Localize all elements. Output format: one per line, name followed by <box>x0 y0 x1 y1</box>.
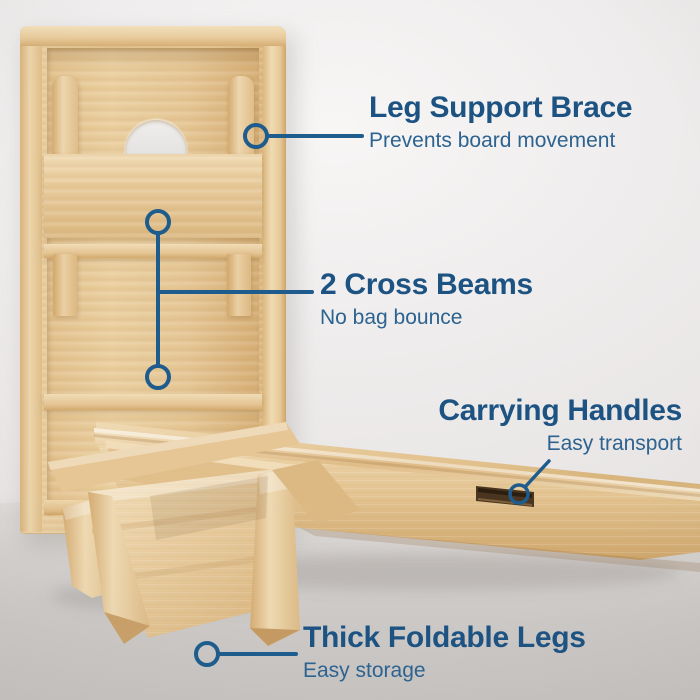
image-vignette <box>0 0 700 700</box>
infographic-canvas: Leg Support Brace Prevents board movemen… <box>0 0 700 700</box>
